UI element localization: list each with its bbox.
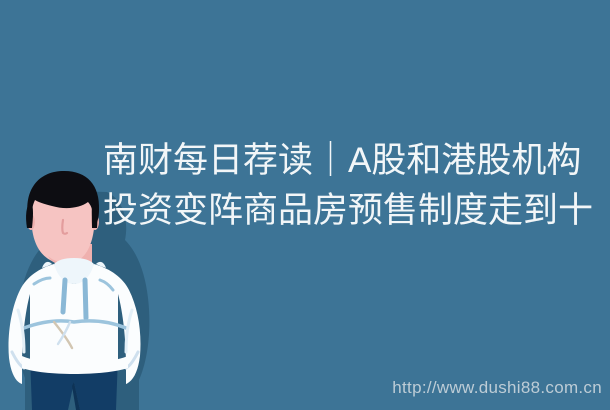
- page-title: 南财每日荐读｜A股和港股机构投资变阵商品房预售制度走到十字路: [103, 136, 603, 236]
- hair-sideburn-left: [26, 200, 33, 228]
- site-watermark-url: http://www.dushi88.com.cn: [392, 378, 602, 398]
- drawstring-right: [85, 280, 86, 318]
- drawstring-left: [63, 280, 65, 312]
- article-thumbnail-card: 南财每日荐读｜A股和港股机构投资变阵商品房预售制度走到十字路 http://ww…: [0, 0, 610, 410]
